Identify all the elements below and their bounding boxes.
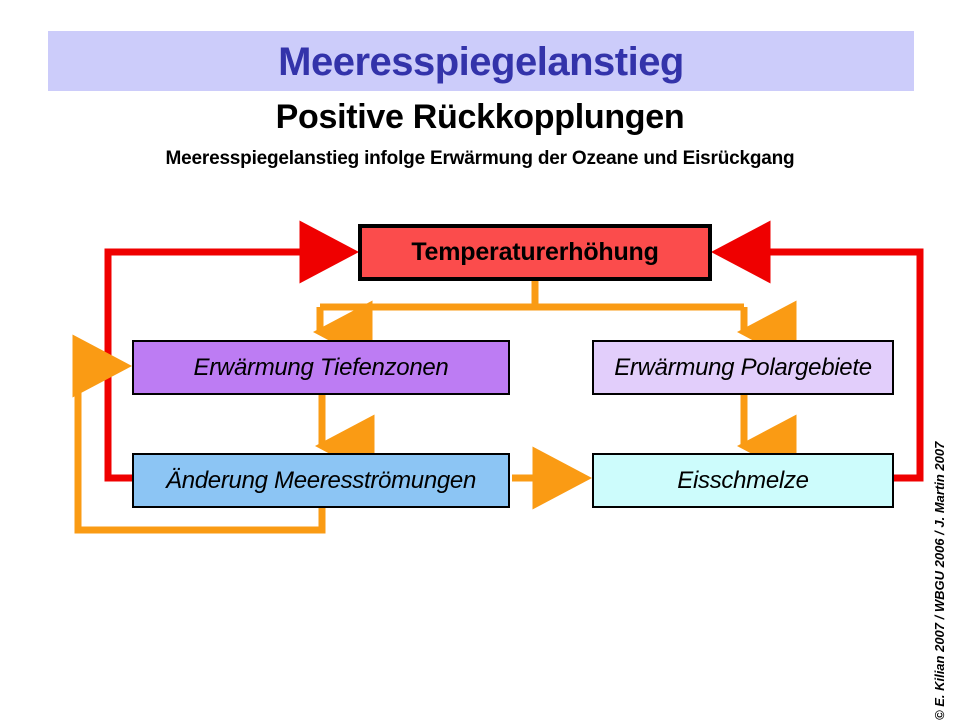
node-ice-melt[interactable]: Eisschmelze [592, 453, 894, 508]
node-temperature[interactable]: Temperaturerhöhung [358, 224, 712, 281]
edge-temperature-fork [320, 281, 744, 332]
node-deep-zones[interactable]: Erwärmung Tiefenzonen [132, 340, 510, 395]
slide-canvas: Meeresspiegelanstieg Positive Rückkopplu… [0, 0, 960, 720]
node-polar-regions[interactable]: Erwärmung Polargebiete [592, 340, 894, 395]
node-ocean-currents[interactable]: Änderung Meeresströmungen [132, 453, 510, 508]
